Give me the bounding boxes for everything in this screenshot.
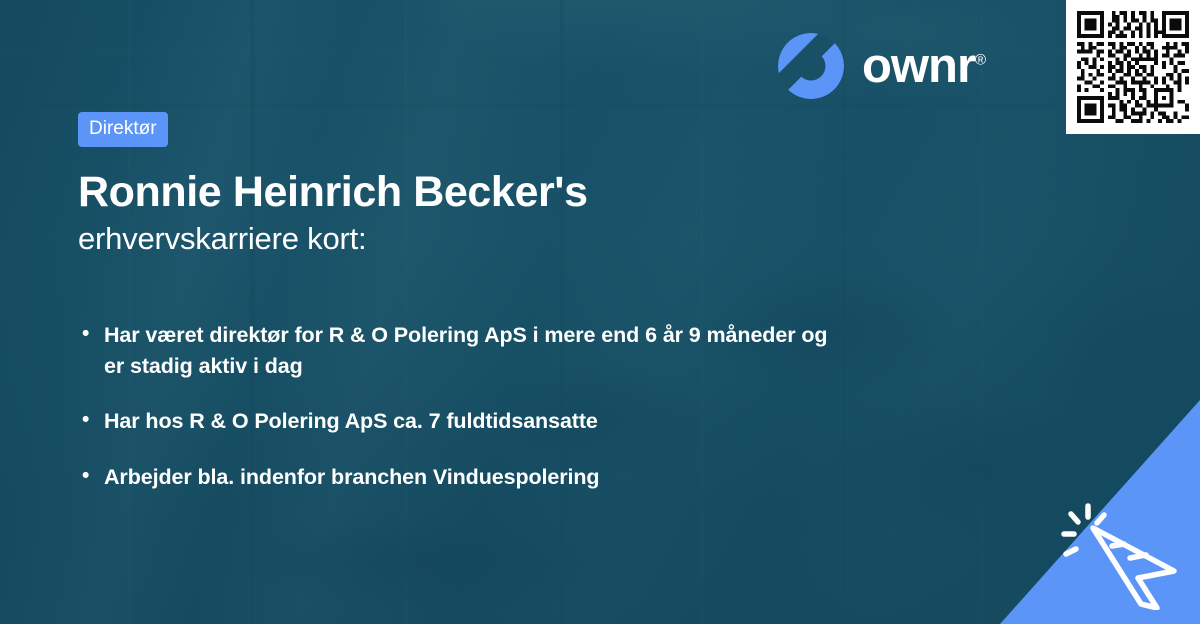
- ownr-logo[interactable]: ownr®: [778, 33, 986, 99]
- role-badge: Direktør: [78, 112, 168, 147]
- list-item: Arbejder bla. indenfor branchen Vinduesp…: [78, 462, 838, 493]
- ownr-circle-mark-icon: [778, 33, 844, 99]
- list-item: Har hos R & O Polering ApS ca. 7 fuldtid…: [78, 406, 838, 437]
- registered-trademark-symbol: ®: [975, 51, 986, 68]
- qr-code-icon: [1077, 11, 1189, 123]
- click-cursor-icon: [1058, 498, 1182, 610]
- ownr-wordmark-text: ownr: [862, 39, 975, 93]
- qr-code-panel[interactable]: [1066, 0, 1200, 134]
- career-card: ownr®: [0, 0, 1200, 624]
- fact-list: Har været direktør for R & O Polering Ap…: [78, 320, 978, 493]
- list-item: Har været direktør for R & O Polering Ap…: [78, 320, 838, 382]
- ownr-wordmark: ownr®: [862, 42, 986, 91]
- card-content: Direktør Ronnie Heinrich Becker's erhver…: [78, 112, 978, 493]
- page-subtitle: erhvervskarriere kort:: [78, 221, 978, 258]
- page-title: Ronnie Heinrich Becker's: [78, 169, 978, 215]
